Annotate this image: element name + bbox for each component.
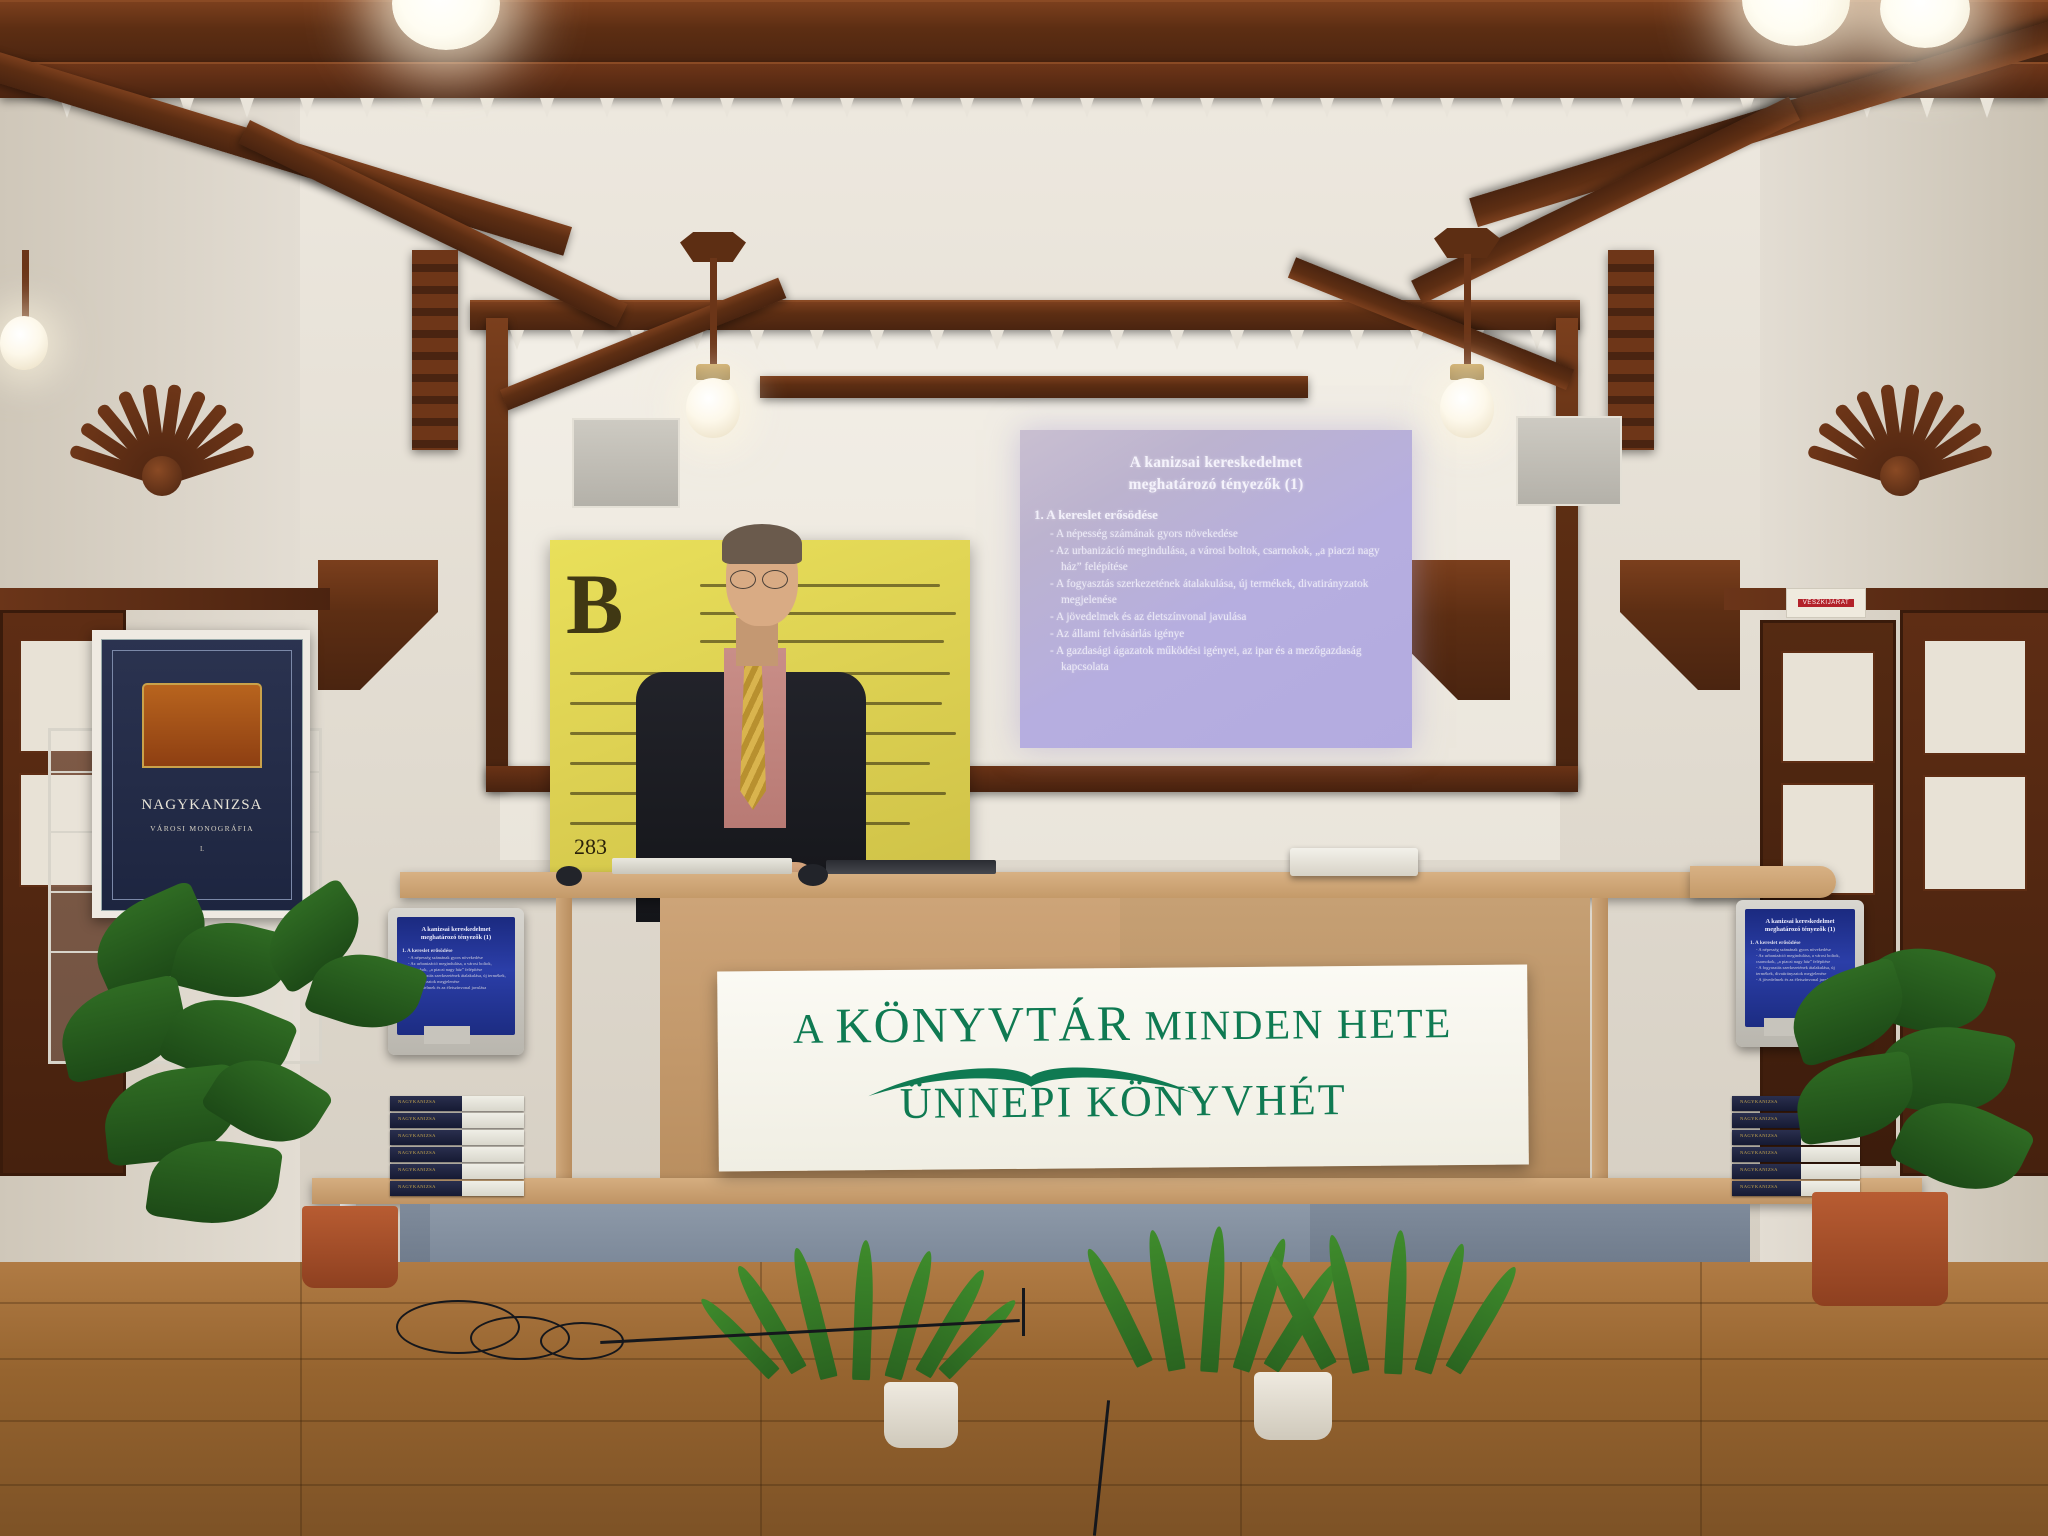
monitor-title-line2: meghatározó tényezők (1) bbox=[402, 934, 510, 942]
alcove-post-right bbox=[1556, 318, 1578, 788]
monitor-bullet: - Az urbanizáció megindulása, a városi b… bbox=[1756, 953, 1851, 965]
carved-strip-left bbox=[412, 250, 458, 450]
wall-speaker-right bbox=[1516, 416, 1622, 506]
carved-sunburst-right bbox=[1790, 300, 2010, 480]
book: NAGYKANIZSA bbox=[390, 1113, 524, 1128]
slide-title-line2: meghatározó tényezők (1) bbox=[1038, 474, 1394, 496]
poster-volume: I. bbox=[102, 845, 302, 853]
ceiling-beam-top-lower bbox=[0, 62, 2048, 98]
microphone-left[interactable] bbox=[556, 866, 582, 886]
alcove-lintel bbox=[760, 376, 1308, 398]
monitor-slide-title: A kanizsai kereskedelmet meghatározó tén… bbox=[397, 917, 515, 943]
slide-bullet: - Az állami felvásárlás igénye bbox=[1050, 626, 1402, 642]
desk-surface-curve bbox=[1690, 866, 1836, 898]
ceiling-beam-top bbox=[0, 0, 2048, 68]
speaker-glasses-right bbox=[762, 570, 788, 589]
microphone-right[interactable] bbox=[798, 864, 828, 886]
desk-leg-left bbox=[556, 898, 572, 1198]
poster-title: NAGYKANIZSA bbox=[102, 797, 302, 814]
book-stack-left: NAGYKANIZSA NAGYKANIZSA NAGYKANIZSA NAGY… bbox=[390, 1096, 524, 1198]
poster-inner: NAGYKANIZSA VÁROSI MONOGRÁFIA I. bbox=[101, 639, 303, 911]
slide-bullet-list: - A népesség számának gyors növekedése -… bbox=[1020, 526, 1412, 675]
monitor-title-line2: meghatározó tényezők (1) bbox=[1750, 926, 1850, 934]
lecture-hall-photo: VÉSZKIJÁRAT A kanizsai kereskedelmet meg… bbox=[0, 0, 2048, 1536]
book: NAGYKANIZSA bbox=[390, 1147, 524, 1162]
laptop[interactable] bbox=[612, 858, 792, 874]
cable-drop bbox=[1022, 1288, 1025, 1336]
emergency-exit-label: VÉSZKIJÁRAT bbox=[1798, 599, 1855, 607]
laptop-lid[interactable] bbox=[826, 860, 996, 874]
book: NAGYKANIZSA bbox=[390, 1181, 524, 1196]
carved-sunburst-left bbox=[52, 300, 272, 480]
monitor-left-stand bbox=[424, 1026, 470, 1044]
slide-bullet: - A fogyasztás szerkezetének átalakulása… bbox=[1050, 576, 1402, 608]
slide-bullet: - A gazdasági ágazatok működési igényei,… bbox=[1050, 643, 1402, 675]
banner-keyword: KÖNYVTÁR bbox=[835, 995, 1132, 1054]
banner-line-1: A KÖNYVTÁR MINDEN HETE bbox=[717, 990, 1527, 1055]
slide-section-heading: 1. A kereslet erősödése bbox=[1020, 497, 1412, 526]
slide-title: A kanizsai kereskedelmet meghatározó tén… bbox=[1020, 430, 1412, 497]
slide-bullet: - A népesség számának gyors növekedése bbox=[1050, 526, 1402, 542]
monitor-slide-title: A kanizsai kereskedelmet meghatározó tén… bbox=[1745, 909, 1855, 935]
monitor-title-line1: A kanizsai kereskedelmet bbox=[402, 926, 510, 934]
slide-bullet: - A jövedelmek és az életszínvonal javul… bbox=[1050, 609, 1402, 625]
poster-subtitle: VÁROSI MONOGRÁFIA bbox=[102, 824, 302, 833]
slide-title-line1: A kanizsai kereskedelmet bbox=[1038, 452, 1394, 474]
slide-bullet: - Az urbanizáció megindulása, a városi b… bbox=[1050, 543, 1402, 575]
book: NAGYKANIZSA bbox=[390, 1164, 524, 1179]
banner-rest: MINDEN HETE bbox=[1144, 1001, 1452, 1050]
lamp-rod-far-left bbox=[22, 250, 29, 320]
pendant-lamp-far-left bbox=[0, 316, 48, 370]
speaker-glasses-left bbox=[730, 570, 756, 589]
banner-article: A bbox=[793, 1007, 823, 1053]
projector[interactable] bbox=[1290, 848, 1418, 876]
monograph-poster: NAGYKANIZSA VÁROSI MONOGRÁFIA I. bbox=[92, 630, 310, 918]
monitor-section: 1. A kereslet erősödése bbox=[397, 943, 515, 955]
lamp-rod-right bbox=[1464, 254, 1471, 368]
book: NAGYKANIZSA bbox=[390, 1130, 524, 1145]
wall-speaker-left bbox=[572, 418, 680, 508]
wall-trim-right bbox=[1724, 588, 2048, 610]
emergency-exit-sign: VÉSZKIJÁRAT bbox=[1786, 588, 1866, 618]
speaker-tie bbox=[740, 650, 766, 810]
desk-surface bbox=[400, 872, 1820, 898]
pendant-lamp-right bbox=[1440, 378, 1494, 438]
lamp-rod-left bbox=[710, 258, 717, 368]
event-banner: A KÖNYVTÁR MINDEN HETE ÜNNEPI KÖNYVHÉT bbox=[717, 964, 1529, 1171]
book: NAGYKANIZSA bbox=[1732, 1147, 1860, 1162]
desk-leg-right bbox=[1592, 898, 1608, 1198]
monitor-title-line1: A kanizsai kereskedelmet bbox=[1750, 918, 1850, 926]
monitor-section: 1. A kereslet erősödése bbox=[1745, 935, 1855, 947]
speaker-hair bbox=[722, 524, 802, 564]
charter-page-number: 283 bbox=[574, 834, 607, 860]
poster-illumination-art bbox=[142, 683, 262, 768]
wall-trim-left bbox=[0, 588, 330, 610]
projection-screen: A kanizsai kereskedelmet meghatározó tén… bbox=[1020, 430, 1412, 748]
charter-initial: B bbox=[566, 554, 623, 654]
book: NAGYKANIZSA bbox=[1732, 1164, 1860, 1179]
book: NAGYKANIZSA bbox=[390, 1096, 524, 1111]
stage-platform-top bbox=[312, 1178, 1922, 1204]
open-book-logo-icon bbox=[866, 1063, 1196, 1100]
pendant-lamp-left bbox=[686, 378, 740, 438]
